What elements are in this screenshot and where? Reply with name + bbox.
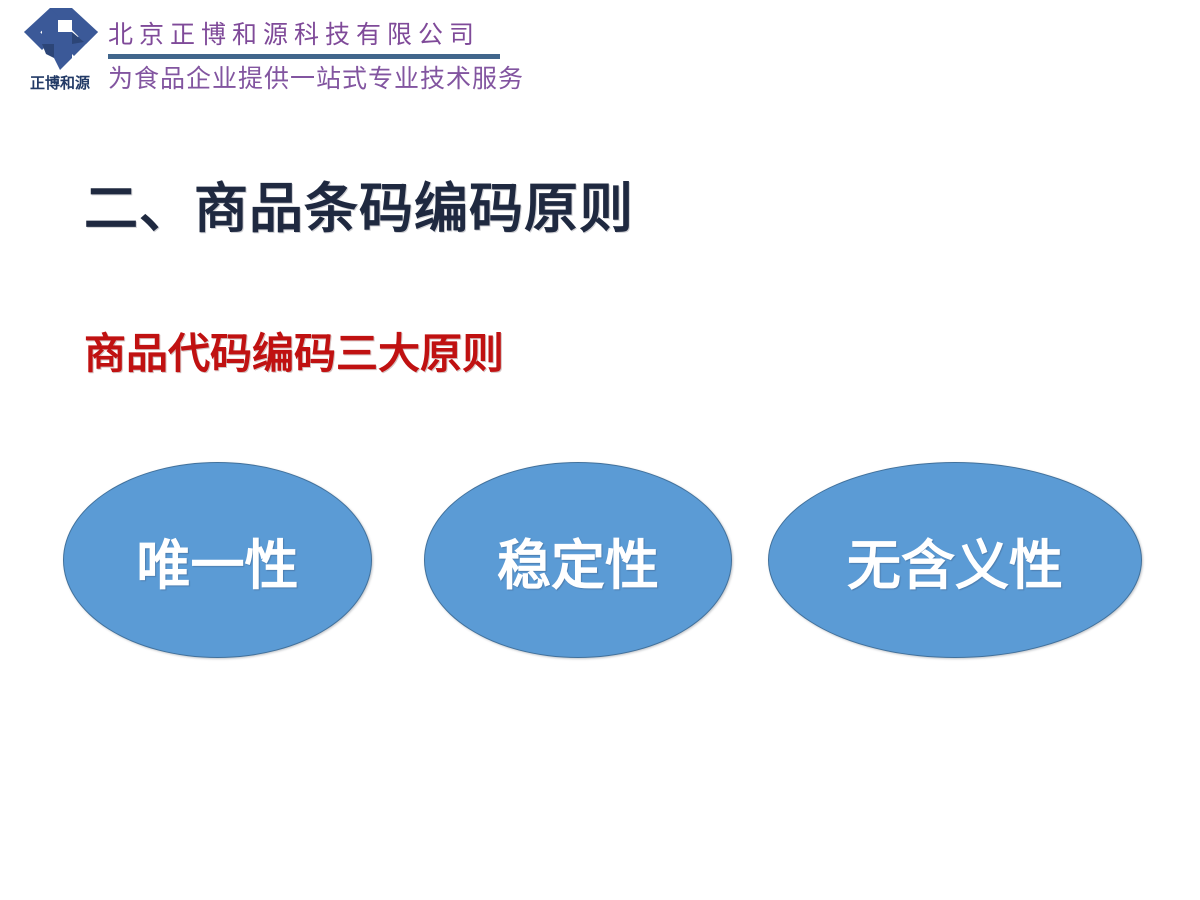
page-title: 二、商品条码编码原则 [84, 164, 634, 243]
brand-text-block: 北京正博和源科技有限公司 为食品企业提供一站式专业技术服务 [108, 18, 548, 97]
company-tagline: 为食品企业提供一站式专业技术服务 [108, 61, 548, 97]
company-logo: 正博和源 [14, 4, 106, 108]
principle-ellipse-non-significance: 无含义性 [768, 462, 1142, 658]
company-name: 北京正博和源科技有限公司 [108, 18, 548, 52]
principle-label: 唯一性 [137, 521, 299, 600]
logo-wordmark: 正博和源 [14, 74, 106, 93]
header-divider-rule [108, 54, 500, 59]
principle-ellipse-uniqueness: 唯一性 [63, 462, 372, 658]
principles-diagram: 唯一性 稳定性 无含义性 [0, 462, 1200, 660]
slide-canvas: 正博和源 北京正博和源科技有限公司 为食品企业提供一站式专业技术服务 二、商品条… [0, 0, 1200, 900]
section-subtitle: 商品代码编码三大原则 [84, 320, 504, 381]
principle-ellipse-stability: 稳定性 [424, 462, 732, 658]
brand-header: 正博和源 北京正博和源科技有限公司 为食品企业提供一站式专业技术服务 [0, 0, 560, 112]
zhengbo-heyuan-logo-mark-icon [20, 6, 104, 72]
principle-label: 无含义性 [847, 521, 1063, 600]
principle-label: 稳定性 [497, 521, 659, 600]
